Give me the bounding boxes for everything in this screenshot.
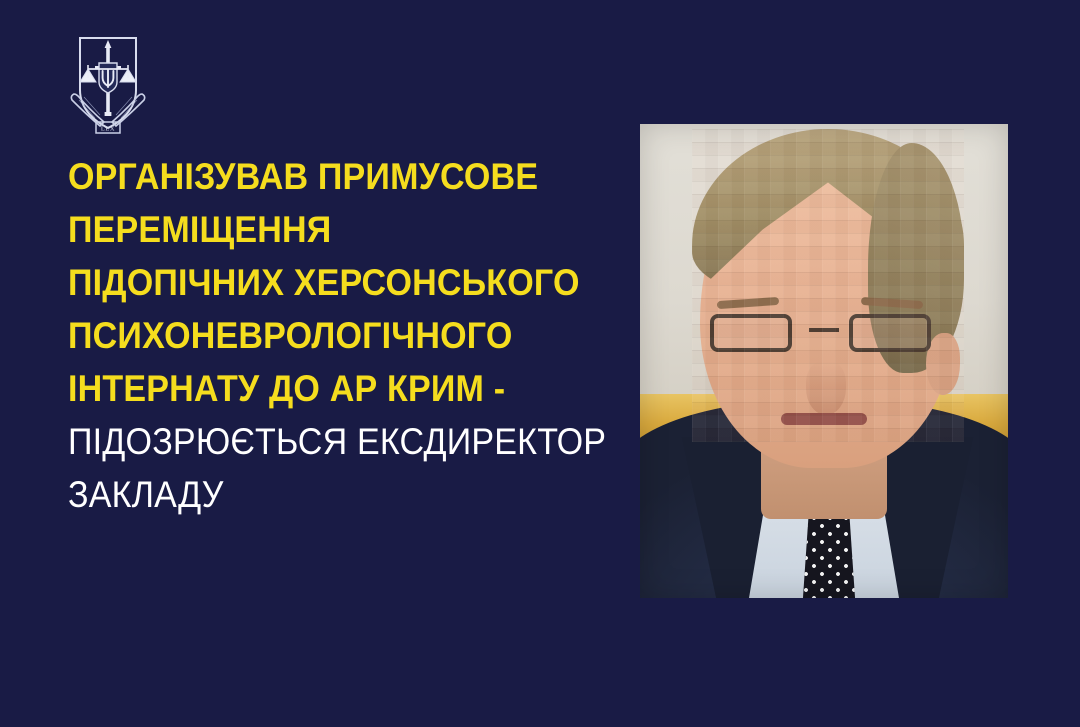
- photo-ear: [926, 333, 960, 395]
- headline-block: ОРГАНІЗУВАВ ПРИМУСОВЕ ПЕРЕМІЩЕННЯ ПІДОПІ…: [68, 158, 628, 513]
- photo-eyeglass-lens-left: [710, 314, 792, 352]
- headline-line-4: ПСИХОНЕВРОЛОГІЧНОГО: [68, 317, 583, 354]
- headline-line-2: ПЕРЕМІЩЕННЯ: [68, 211, 583, 248]
- portrait-composition: [640, 124, 1008, 598]
- headline-line-3: ПІДОПІЧНИХ ХЕРСОНСЬКОГО: [68, 264, 583, 301]
- photo-eyeglass-lens-right: [849, 314, 931, 352]
- news-poster: LEX ОРГАНІЗУВАВ ПРИМУСОВЕ ПЕРЕМІЩЕННЯ ПІ…: [0, 0, 1080, 727]
- photo-nose: [806, 361, 846, 415]
- prosecutor-office-emblem-icon: LEX: [66, 30, 150, 138]
- headline-line-1: ОРГАНІЗУВАВ ПРИМУСОВЕ: [68, 158, 583, 195]
- photo-mouth: [781, 413, 867, 425]
- headline-line-7: ЗАКЛАДУ: [68, 476, 583, 513]
- suspect-portrait-photo: [640, 124, 1008, 598]
- headline-line-6: ПІДОЗРЮЄТЬСЯ ЕКСДИРЕКТОР: [68, 423, 583, 460]
- svg-text:LEX: LEX: [101, 125, 115, 132]
- photo-eyeglass-bridge: [809, 328, 839, 332]
- headline-line-5: ІНТЕРНАТУ ДО АР КРИМ -: [68, 370, 583, 407]
